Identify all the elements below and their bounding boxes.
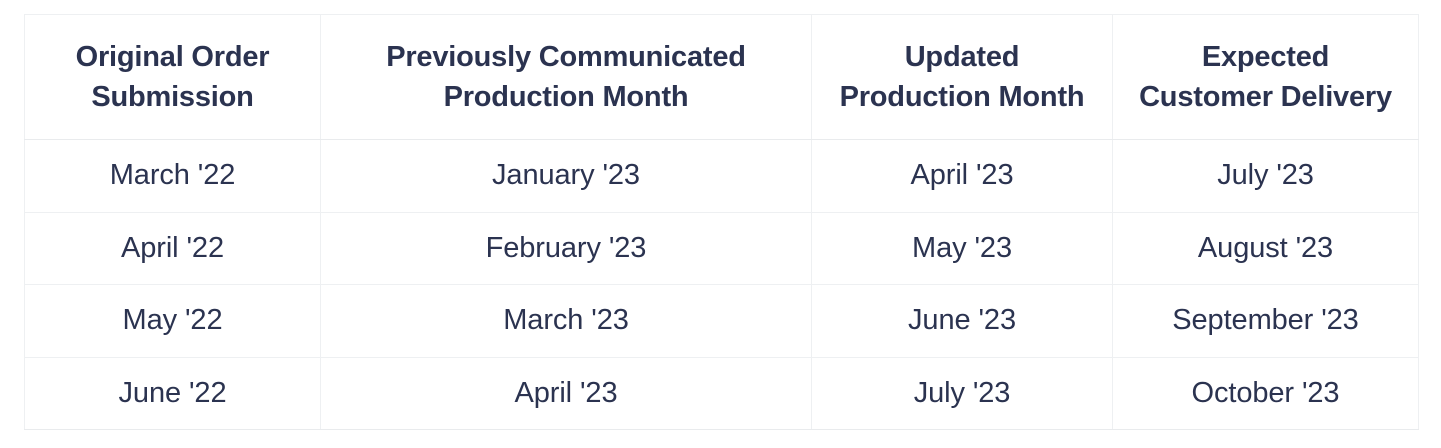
- column-header-updated-production-month: Updated Production Month: [812, 15, 1113, 140]
- cell-updated-production-month: May '23: [812, 212, 1113, 285]
- column-header-line-2: Production Month: [822, 77, 1102, 117]
- page-root: Original Order Submission Previously Com…: [0, 0, 1441, 448]
- cell-expected-customer-delivery: July '23: [1113, 140, 1419, 213]
- table-header: Original Order Submission Previously Com…: [25, 15, 1419, 140]
- column-header-original-order-submission: Original Order Submission: [25, 15, 321, 140]
- table-row: June '22 April '23 July '23 October '23: [25, 357, 1419, 430]
- cell-previously-communicated-production-month: April '23: [321, 357, 812, 430]
- cell-updated-production-month: June '23: [812, 285, 1113, 358]
- column-header-line-2: Submission: [35, 77, 310, 117]
- cell-updated-production-month: April '23: [812, 140, 1113, 213]
- column-header-line-1: Expected: [1123, 37, 1408, 77]
- schedule-table-container: Original Order Submission Previously Com…: [24, 14, 1418, 428]
- cell-updated-production-month: July '23: [812, 357, 1113, 430]
- cell-previously-communicated-production-month: January '23: [321, 140, 812, 213]
- table-header-row: Original Order Submission Previously Com…: [25, 15, 1419, 140]
- column-header-line-1: Original Order: [35, 37, 310, 77]
- table-row: May '22 March '23 June '23 September '23: [25, 285, 1419, 358]
- cell-original-order-submission: March '22: [25, 140, 321, 213]
- table-row: March '22 January '23 April '23 July '23: [25, 140, 1419, 213]
- column-header-line-1: Updated: [822, 37, 1102, 77]
- table-row: April '22 February '23 May '23 August '2…: [25, 212, 1419, 285]
- column-header-line-1: Previously Communicated: [331, 37, 801, 77]
- cell-original-order-submission: June '22: [25, 357, 321, 430]
- production-schedule-table: Original Order Submission Previously Com…: [24, 14, 1419, 430]
- column-header-expected-customer-delivery: Expected Customer Delivery: [1113, 15, 1419, 140]
- cell-original-order-submission: May '22: [25, 285, 321, 358]
- cell-expected-customer-delivery: October '23: [1113, 357, 1419, 430]
- column-header-line-2: Customer Delivery: [1123, 77, 1408, 117]
- table-body: March '22 January '23 April '23 July '23…: [25, 140, 1419, 430]
- column-header-line-2: Production Month: [331, 77, 801, 117]
- cell-previously-communicated-production-month: February '23: [321, 212, 812, 285]
- cell-previously-communicated-production-month: March '23: [321, 285, 812, 358]
- column-header-previously-communicated-production-month: Previously Communicated Production Month: [321, 15, 812, 140]
- cell-expected-customer-delivery: September '23: [1113, 285, 1419, 358]
- cell-expected-customer-delivery: August '23: [1113, 212, 1419, 285]
- cell-original-order-submission: April '22: [25, 212, 321, 285]
